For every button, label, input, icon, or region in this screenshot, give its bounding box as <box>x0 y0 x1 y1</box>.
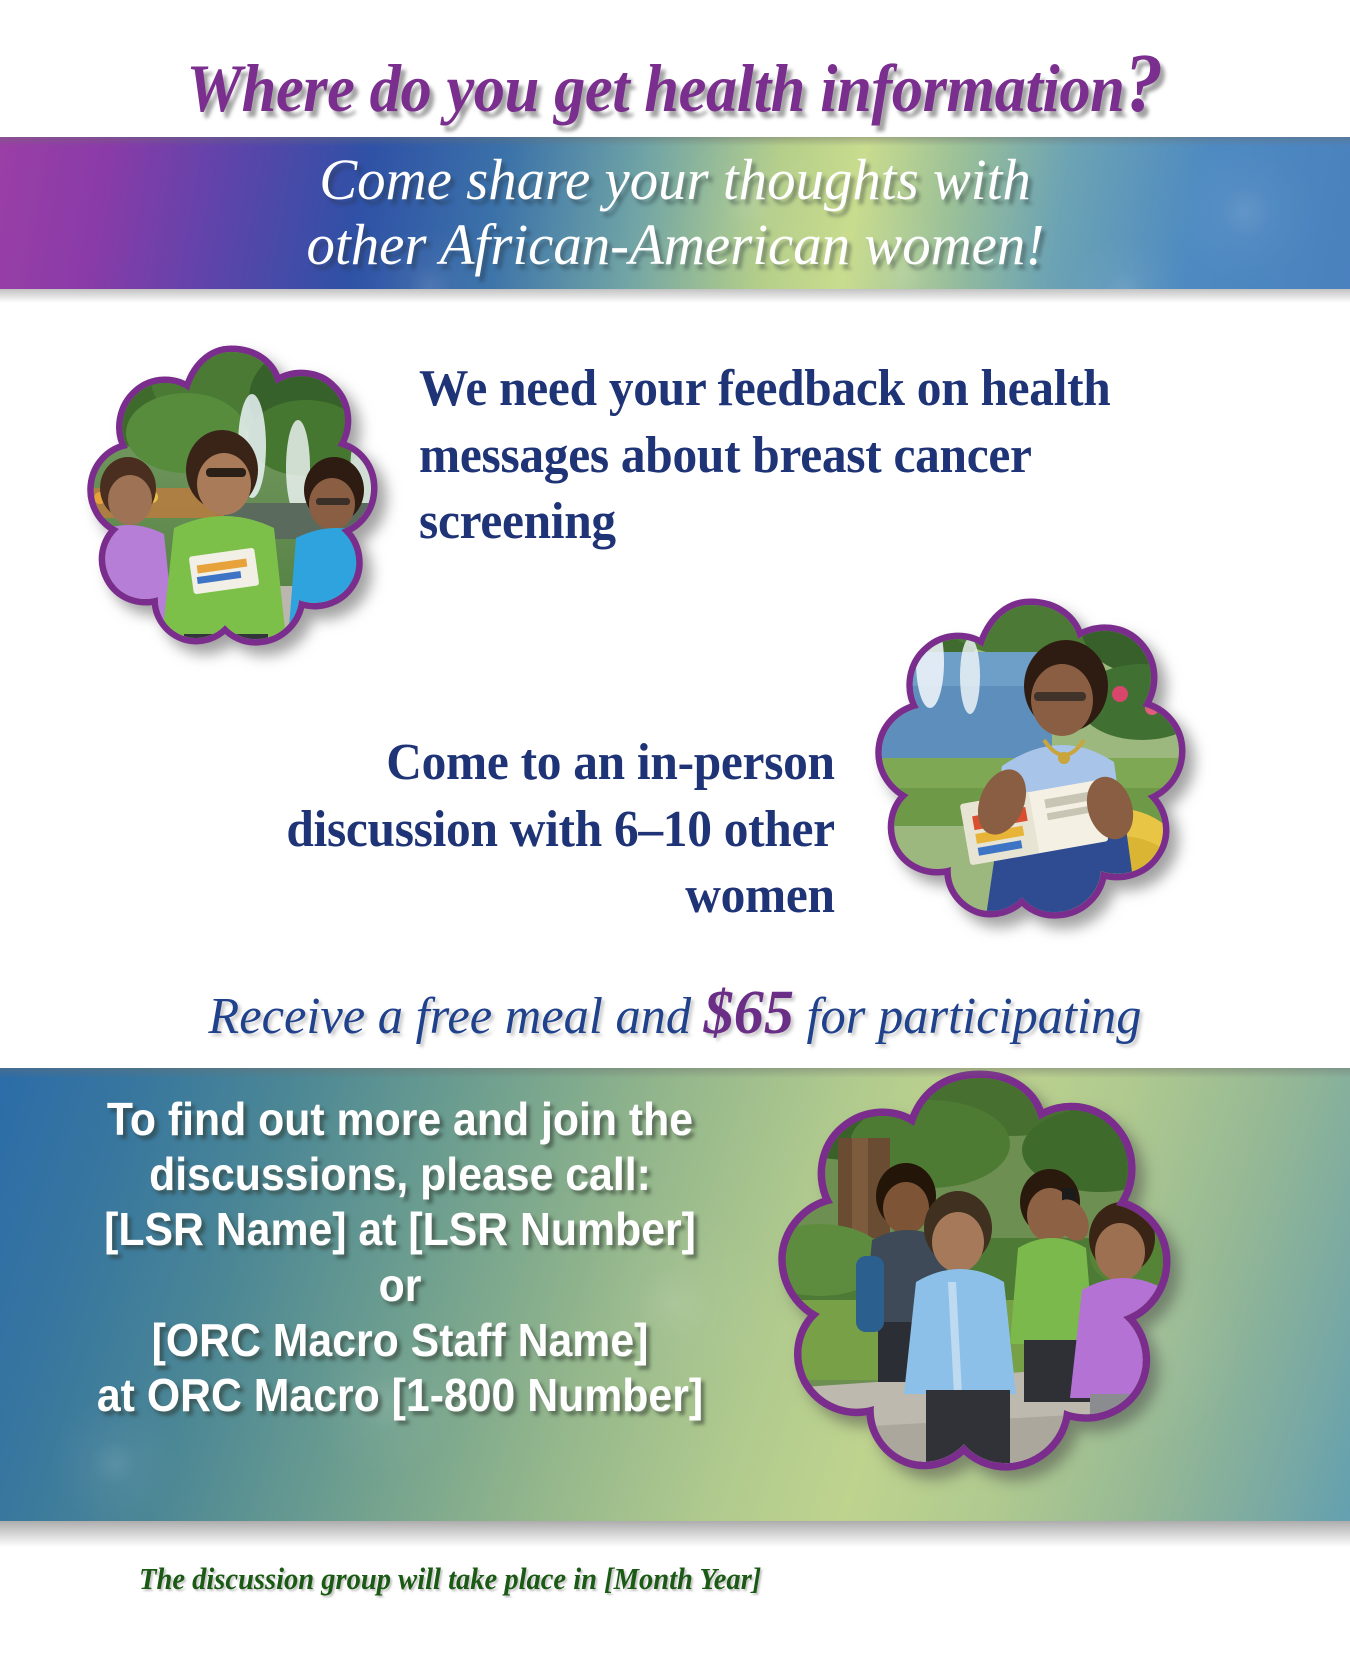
contact-line: To find out more and join the <box>56 1092 744 1147</box>
photo-four-women-walking <box>760 1060 1200 1500</box>
photo-content <box>852 590 1207 945</box>
headline-container: Where do you get health information? <box>0 42 1350 126</box>
top-banner: Come share your thoughts with other Afri… <box>0 137 1350 289</box>
incentive-container: Receive a free meal and $65 for particip… <box>0 978 1350 1049</box>
contact-line: at ORC Macro [1-800 Number] <box>56 1368 744 1423</box>
contact-line: discussions, please call: <box>56 1147 744 1202</box>
banner-bottom-edge-shadow <box>0 289 1350 303</box>
incentive-suffix: for participating <box>794 988 1142 1045</box>
footer-container: The discussion group will take place in … <box>112 1561 788 1597</box>
photo-content <box>66 338 396 668</box>
contact-text-block: To find out more and join the discussion… <box>30 1092 770 1423</box>
photo-woman-reading <box>852 590 1207 945</box>
incentive-line: Receive a free meal and $65 for particip… <box>208 978 1141 1049</box>
page-title: Where do you get health information? <box>187 42 1163 126</box>
footer-note: The discussion group will take place in … <box>139 1561 761 1597</box>
incentive-amount: $65 <box>704 979 794 1047</box>
incentive-prefix: Receive a free meal and <box>208 988 703 1045</box>
contact-line: [LSR Name] at [LSR Number] <box>56 1202 744 1257</box>
floral-decor-icon <box>1060 227 1190 289</box>
photo-three-women-fountain <box>66 338 396 668</box>
contact-panel-bottom-shadow <box>0 1521 1350 1547</box>
contact-line: or <box>56 1258 744 1313</box>
body-copy-discussion: Come to an in-person discussion with 6–1… <box>255 730 835 930</box>
floral-decor-icon <box>1160 137 1330 289</box>
flyer-page: Where do you get health information? Com… <box>0 0 1350 1656</box>
banner-line-1: Come share your thoughts with <box>319 148 1031 213</box>
banner-line-2: other African-American women! <box>306 213 1044 278</box>
headline-text: Where do you get health information <box>187 50 1125 126</box>
body-copy-feedback: We need your feedback on health messages… <box>419 356 1217 556</box>
headline-question-mark: ? <box>1125 37 1163 130</box>
photo-content <box>760 1060 1200 1500</box>
contact-line: [ORC Macro Staff Name] <box>56 1313 744 1368</box>
top-banner-inner: Come share your thoughts with other Afri… <box>0 137 1350 289</box>
